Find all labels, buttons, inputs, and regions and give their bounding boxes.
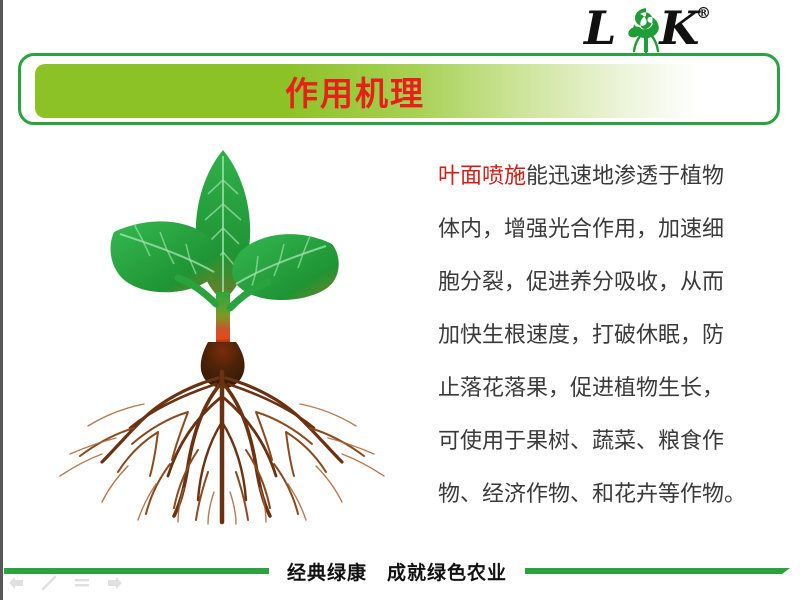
lk-logo: LK ® xyxy=(584,2,734,58)
logo-letter-l: L xyxy=(584,1,617,55)
menu-icon[interactable] xyxy=(72,574,92,592)
copy-line: 加快生根速度，打破休眠，防 xyxy=(438,309,788,362)
presenter-nav-controls[interactable] xyxy=(6,574,125,592)
plant-with-roots-illustration xyxy=(38,132,408,532)
footer-slogan: 经典绿康 成就绿色农业 xyxy=(269,558,525,585)
title-banner: 作用机理 xyxy=(18,53,780,125)
title-banner-fill: 作用机理 xyxy=(35,64,771,118)
copy-line: 胞分裂，促进养分吸收，从而 xyxy=(438,256,788,309)
copy-line-text: 加快生根速度，打破休眠，防 xyxy=(438,323,724,348)
copy-line: 体内，增强光合作用，加速细 xyxy=(438,203,788,256)
next-slide-icon[interactable] xyxy=(105,574,125,592)
logo-plant-icon xyxy=(622,4,670,54)
copy-line: 叶面喷施能迅速地渗透于植物 xyxy=(438,150,788,203)
copy-line-text: 物、经济作物、和花卉等作物。 xyxy=(438,482,746,507)
copy-line: 物、经济作物、和花卉等作物。 xyxy=(438,468,788,521)
copy-line-text: 可使用于果树、蔬菜、粮食作 xyxy=(438,429,724,454)
copy-line-text: 胞分裂，促进养分吸收，从而 xyxy=(438,270,724,295)
body-copy: 叶面喷施能迅速地渗透于植物 体内，增强光合作用，加速细 胞分裂，促进养分吸收，从… xyxy=(438,150,788,521)
copy-line: 可使用于果树、蔬菜、粮食作 xyxy=(438,415,788,468)
registered-trademark-icon: ® xyxy=(696,4,711,22)
page-title: 作用机理 xyxy=(35,64,675,118)
previous-slide-icon[interactable] xyxy=(6,574,26,592)
presentation-slide: LK ® 作用机理 xyxy=(0,0,800,600)
copy-line-text: 体内，增强光合作用，加速细 xyxy=(438,217,724,242)
copy-line-text: 能迅速地渗透于植物 xyxy=(526,164,724,189)
copy-line: 止落花落果，促进植物生长， xyxy=(438,362,788,415)
pen-icon[interactable] xyxy=(39,574,59,592)
copy-accent-term: 叶面喷施 xyxy=(438,164,526,189)
copy-line-text: 止落花落果，促进植物生长， xyxy=(438,376,724,401)
slide-left-edge xyxy=(0,0,3,600)
footer-rule-right xyxy=(525,568,790,574)
